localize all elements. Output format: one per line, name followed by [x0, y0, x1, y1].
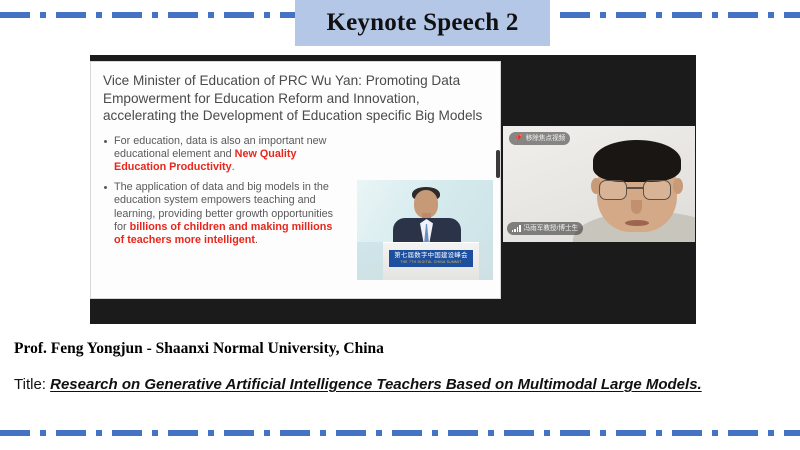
webcam-participant-mouth: [625, 220, 649, 226]
webcam-video-tile[interactable]: 📌 移除焦点视频 冯雨军教授/博士生: [503, 126, 695, 242]
podium-banner: 第七届数字中国建设峰会 THE 7TH DIGITAL CHINA SUMMIT: [389, 250, 473, 267]
slide-bullet-item: For education, data is also an important…: [103, 135, 335, 175]
speaker-at-podium-photo: 第七届数字中国建设峰会 THE 7TH DIGITAL CHINA SUMMIT: [357, 180, 493, 280]
bottom-dashed-rule: [0, 430, 800, 436]
pin-icon: 📌: [514, 135, 523, 142]
webcam-participant-ear-right: [673, 178, 683, 194]
eyeglasses-icon: [599, 180, 627, 200]
presentation-slide: Vice Minister of Education of PRC Wu Yan…: [90, 61, 501, 299]
talk-title-label: Title:: [14, 376, 50, 393]
keynote-announcement-slide: Keynote Speech 2 Vice Minister of Educat…: [0, 0, 800, 450]
webcam-participant-nose: [631, 200, 642, 214]
eyeglasses-bridge: [627, 187, 643, 189]
speaker-affiliation-line: Prof. Feng Yongjun - Shaanxi Normal Univ…: [14, 340, 384, 358]
bullet-1-part-3: .: [232, 161, 235, 173]
slide-bullet-list: For education, data is also an important…: [103, 135, 335, 248]
webcam-participant-hair: [593, 140, 681, 182]
bullet-2-part-3: .: [255, 234, 258, 246]
podium-banner-chinese-text: 第七届数字中国建设峰会: [394, 252, 468, 260]
keynote-title-text: Keynote Speech 2: [326, 9, 518, 37]
eyeglasses-icon: [643, 180, 671, 200]
slide-bullet-item: The application of data and big models i…: [103, 181, 335, 247]
participant-name-label: 冯雨军教授/博士生: [524, 224, 579, 233]
talk-title-line: Title: Research on Generative Artificial…: [14, 376, 702, 393]
signal-strength-icon: [512, 225, 521, 232]
participant-name-badge: 冯雨军教授/博士生: [507, 222, 583, 235]
podium-banner-english-text: THE 7TH DIGITAL CHINA SUMMIT: [400, 260, 462, 265]
screenshare-stage: Vice Minister of Education of PRC Wu Yan…: [90, 55, 696, 324]
stage-scrollbar[interactable]: [496, 150, 500, 178]
unpin-focus-video-label: 移除焦点视频: [526, 134, 566, 143]
bullet-2-highlight: billions of children and making millions…: [114, 221, 332, 246]
talk-title-text: Research on Generative Artificial Intell…: [50, 376, 702, 393]
keynote-title-badge: Keynote Speech 2: [295, 0, 550, 46]
unpin-focus-video-button[interactable]: 📌 移除焦点视频: [509, 132, 570, 145]
slide-heading: Vice Minister of Education of PRC Wu Yan…: [103, 72, 488, 125]
